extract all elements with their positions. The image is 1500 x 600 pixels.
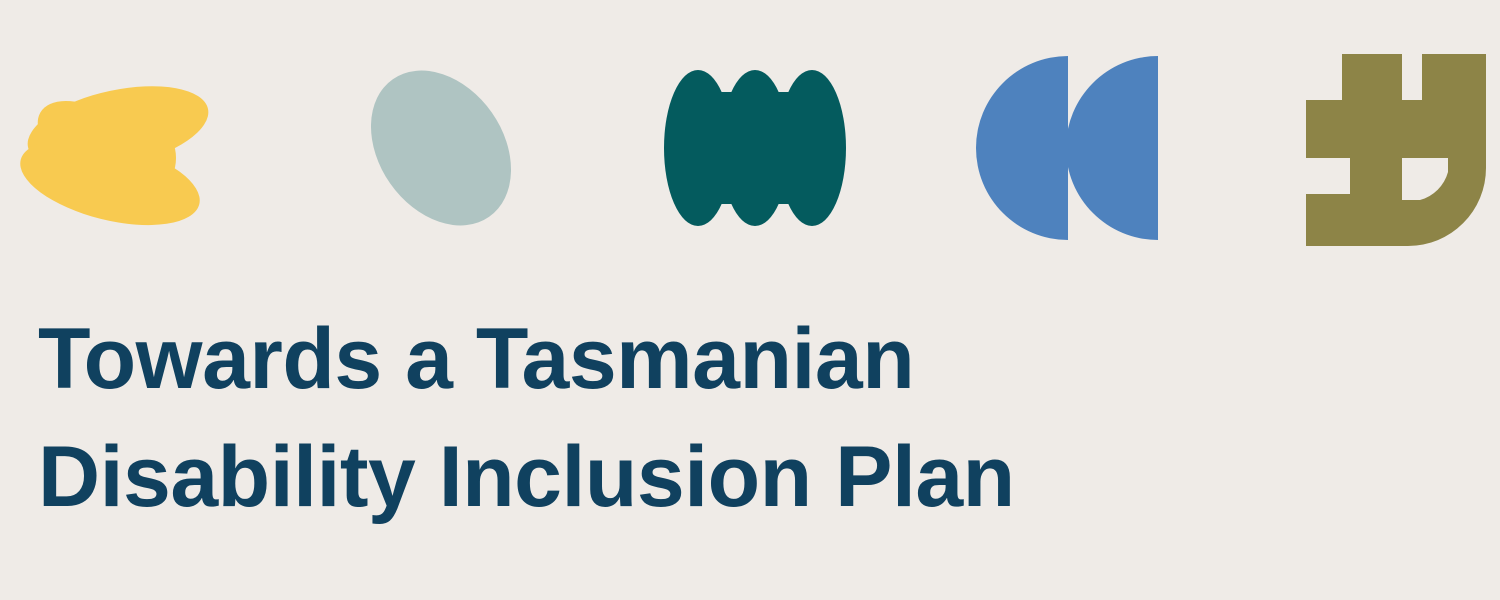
abstract-blob-icon [10, 40, 240, 260]
blue-half-circles-shape [960, 40, 1190, 260]
abstract-triple-lobe-icon [650, 40, 880, 260]
abstract-half-circle-pair-icon [960, 40, 1190, 260]
decorative-shape-row [0, 0, 1500, 290]
sage-ellipse-shape [330, 40, 560, 260]
page-title: Towards a Tasmanian Disability Inclusion… [38, 300, 1338, 536]
olive-notched-shape [1280, 40, 1500, 260]
disability-inclusion-plan-banner: Towards a Tasmanian Disability Inclusion… [0, 0, 1500, 600]
yellow-blob-shape [10, 40, 240, 260]
abstract-notched-block-icon [1280, 40, 1500, 260]
abstract-ellipse-icon [330, 40, 560, 260]
title-line-1: Towards a Tasmanian [38, 300, 1338, 418]
teal-wave-shape [650, 40, 880, 260]
title-line-2: Disability Inclusion Plan [38, 418, 1338, 536]
